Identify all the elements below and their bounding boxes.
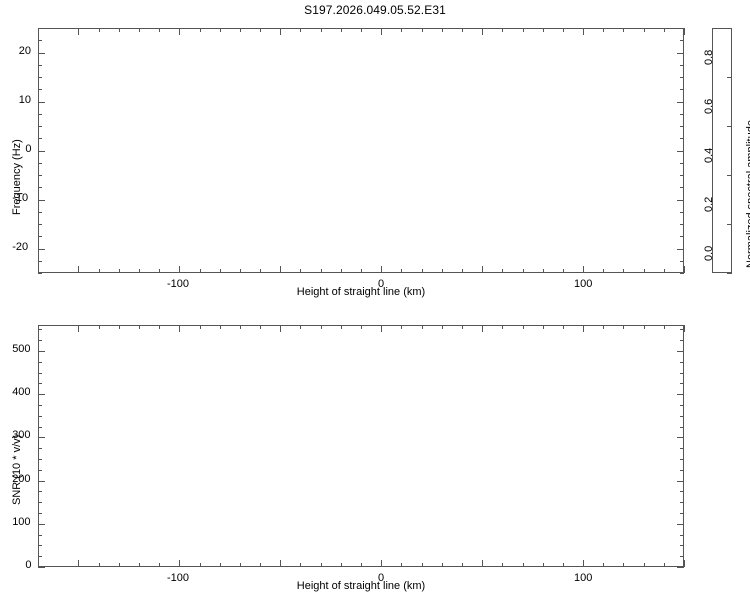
- axis-tick: [422, 325, 423, 329]
- axis-tick: [583, 560, 584, 567]
- axis-tick: [563, 28, 564, 32]
- axis-tick: [280, 266, 281, 273]
- axis-tick: [684, 325, 685, 332]
- axis-tick: [677, 249, 684, 250]
- axis-tick: [280, 28, 281, 35]
- axis-tick: [341, 325, 342, 329]
- axis-tick: [179, 28, 180, 35]
- axis-tick: [680, 77, 684, 78]
- colorbar: [712, 28, 732, 273]
- snr-ytick-label: 100: [12, 516, 30, 528]
- snr-frame: [38, 325, 684, 567]
- axis-tick: [38, 383, 42, 384]
- axis-tick: [139, 28, 140, 32]
- axis-tick: [644, 269, 645, 273]
- axis-tick: [680, 89, 684, 90]
- colorbar-tick-label: 0.8: [703, 50, 715, 65]
- axis-tick: [680, 535, 684, 536]
- axis-tick: [300, 28, 301, 32]
- colorbar-gradient: [713, 29, 731, 272]
- axis-tick: [38, 163, 42, 164]
- axis-tick: [680, 212, 684, 213]
- axis-tick: [38, 427, 42, 428]
- axis-tick: [38, 249, 45, 250]
- axis-tick: [38, 535, 42, 536]
- spectrogram-ytick-label: 20: [19, 45, 31, 57]
- colorbar-tick-label: 0.6: [703, 99, 715, 114]
- colorbar-tick-label: 0.4: [703, 148, 715, 163]
- snr-ytick-label: 500: [12, 343, 30, 355]
- axis-tick: [179, 325, 180, 332]
- axis-tick: [300, 563, 301, 567]
- axis-tick: [38, 212, 42, 213]
- axis-tick: [220, 28, 221, 32]
- axis-tick: [422, 28, 423, 32]
- axis-tick: [523, 563, 524, 567]
- axis-tick: [38, 405, 42, 406]
- axis-tick: [482, 560, 483, 567]
- axis-tick: [543, 269, 544, 273]
- axis-tick: [680, 427, 684, 428]
- axis-tick: [482, 28, 483, 35]
- axis-tick: [38, 65, 42, 66]
- axis-tick: [200, 269, 201, 273]
- axis-tick: [38, 89, 42, 90]
- axis-tick: [680, 138, 684, 139]
- axis-tick: [240, 28, 241, 32]
- axis-tick: [482, 266, 483, 273]
- axis-tick: [139, 325, 140, 329]
- axis-tick: [677, 102, 684, 103]
- axis-tick: [38, 187, 42, 188]
- snr-ytick-label: 0: [25, 559, 31, 571]
- axis-tick: [523, 325, 524, 329]
- axis-tick: [38, 491, 42, 492]
- axis-tick: [220, 563, 221, 567]
- axis-tick: [38, 481, 45, 482]
- axis-tick: [38, 175, 42, 176]
- axis-tick: [280, 560, 281, 567]
- axis-tick: [442, 563, 443, 567]
- axis-tick: [38, 261, 42, 262]
- axis-tick: [38, 470, 42, 471]
- colorbar-label: Normalized spectral amplitude: [745, 120, 750, 268]
- axis-tick: [240, 563, 241, 567]
- axis-tick: [680, 340, 684, 341]
- snr-yaxis-label: SNR (10 * v/v): [11, 435, 23, 505]
- axis-tick: [644, 28, 645, 32]
- axis-tick: [664, 269, 665, 273]
- colorbar-tick-label: 0.2: [703, 197, 715, 212]
- axis-tick: [603, 563, 604, 567]
- axis-tick: [321, 325, 322, 329]
- axis-tick: [727, 126, 732, 127]
- axis-tick: [361, 28, 362, 32]
- axis-tick: [680, 163, 684, 164]
- spectrogram-xaxis-label: Height of straight line (km): [0, 286, 722, 298]
- spectrogram-yaxis-label: Frequency (Hz): [11, 139, 23, 215]
- axis-tick: [38, 102, 45, 103]
- axis-tick: [38, 200, 45, 201]
- axis-tick: [240, 269, 241, 273]
- axis-tick: [680, 362, 684, 363]
- axis-tick: [260, 325, 261, 329]
- axis-tick: [680, 224, 684, 225]
- axis-tick: [462, 28, 463, 32]
- axis-tick: [321, 563, 322, 567]
- axis-tick: [78, 325, 79, 332]
- axis-tick: [38, 28, 42, 29]
- axis-tick: [664, 563, 665, 567]
- axis-tick: [680, 448, 684, 449]
- axis-tick: [680, 416, 684, 417]
- axis-tick: [502, 325, 503, 329]
- axis-tick: [563, 563, 564, 567]
- axis-tick: [38, 459, 42, 460]
- axis-tick: [664, 325, 665, 329]
- axis-tick: [361, 563, 362, 567]
- axis-tick: [381, 266, 382, 273]
- axis-tick: [38, 273, 42, 274]
- axis-tick: [38, 448, 42, 449]
- axis-tick: [78, 266, 79, 273]
- axis-tick: [563, 325, 564, 329]
- axis-tick: [38, 114, 42, 115]
- axis-tick: [543, 563, 544, 567]
- axis-tick: [543, 28, 544, 32]
- axis-tick: [727, 273, 732, 274]
- axis-tick: [677, 200, 684, 201]
- axis-tick: [38, 394, 45, 395]
- spectrogram-ytick-label: 0: [25, 143, 31, 155]
- axis-tick: [38, 138, 42, 139]
- axis-tick: [401, 269, 402, 273]
- axis-tick: [680, 114, 684, 115]
- axis-tick: [680, 373, 684, 374]
- axis-tick: [502, 563, 503, 567]
- axis-tick: [623, 325, 624, 329]
- axis-tick: [38, 40, 42, 41]
- axis-tick: [442, 325, 443, 329]
- axis-tick: [38, 513, 42, 514]
- axis-tick: [623, 28, 624, 32]
- axis-tick: [341, 28, 342, 32]
- axis-tick: [442, 269, 443, 273]
- axis-tick: [159, 325, 160, 329]
- axis-tick: [401, 563, 402, 567]
- axis-tick: [38, 351, 45, 352]
- axis-tick: [727, 77, 732, 78]
- axis-tick: [482, 325, 483, 332]
- axis-tick: [99, 563, 100, 567]
- axis-tick: [260, 28, 261, 32]
- figure-title: S197.2026.049.05.52.E31: [0, 3, 750, 17]
- axis-tick: [38, 236, 42, 237]
- axis-tick: [677, 437, 684, 438]
- axis-tick: [680, 459, 684, 460]
- axis-tick: [680, 513, 684, 514]
- axis-tick: [78, 28, 79, 35]
- axis-tick: [462, 563, 463, 567]
- axis-tick: [680, 329, 684, 330]
- axis-tick: [680, 28, 684, 29]
- axis-tick: [119, 28, 120, 32]
- axis-tick: [401, 325, 402, 329]
- axis-tick: [78, 560, 79, 567]
- axis-tick: [341, 563, 342, 567]
- axis-tick: [680, 383, 684, 384]
- axis-tick: [462, 325, 463, 329]
- axis-tick: [583, 28, 584, 35]
- axis-tick: [381, 28, 382, 35]
- axis-tick: [684, 266, 685, 273]
- axis-tick: [99, 325, 100, 329]
- axis-tick: [727, 224, 732, 225]
- axis-tick: [159, 563, 160, 567]
- axis-tick: [677, 394, 684, 395]
- snr-ytick-label: 400: [12, 386, 30, 398]
- axis-tick: [260, 269, 261, 273]
- axis-tick: [200, 28, 201, 32]
- axis-tick: [543, 325, 544, 329]
- axis-tick: [38, 151, 45, 152]
- axis-tick: [664, 28, 665, 32]
- axis-tick: [179, 560, 180, 567]
- axis-tick: [260, 563, 261, 567]
- axis-tick: [139, 269, 140, 273]
- axis-tick: [220, 269, 221, 273]
- axis-tick: [200, 325, 201, 329]
- figure-root: S197.2026.049.05.52.E31 -1000100-20-1001…: [0, 0, 750, 600]
- axis-tick: [727, 175, 732, 176]
- axis-tick: [677, 481, 684, 482]
- axis-tick: [38, 567, 45, 568]
- axis-tick: [680, 491, 684, 492]
- axis-tick: [680, 236, 684, 237]
- axis-tick: [680, 545, 684, 546]
- axis-tick: [99, 28, 100, 32]
- axis-tick: [38, 545, 42, 546]
- axis-tick: [200, 563, 201, 567]
- axis-tick: [38, 524, 45, 525]
- axis-tick: [38, 416, 42, 417]
- axis-tick: [179, 266, 180, 273]
- axis-tick: [381, 325, 382, 332]
- axis-tick: [680, 556, 684, 557]
- axis-tick: [677, 524, 684, 525]
- axis-tick: [119, 563, 120, 567]
- axis-tick: [502, 28, 503, 32]
- axis-tick: [603, 325, 604, 329]
- axis-tick: [381, 560, 382, 567]
- axis-tick: [583, 266, 584, 273]
- axis-tick: [361, 269, 362, 273]
- axis-tick: [680, 273, 684, 274]
- axis-tick: [38, 373, 42, 374]
- axis-tick: [680, 187, 684, 188]
- axis-tick: [38, 224, 42, 225]
- axis-tick: [680, 502, 684, 503]
- axis-tick: [644, 563, 645, 567]
- spectrogram-frame: [38, 28, 684, 273]
- axis-tick: [677, 351, 684, 352]
- axis-tick: [280, 325, 281, 332]
- axis-tick: [139, 563, 140, 567]
- spectrogram-ytick-label: 10: [19, 94, 31, 106]
- axis-tick: [563, 269, 564, 273]
- axis-tick: [38, 556, 42, 557]
- axis-tick: [462, 269, 463, 273]
- axis-tick: [603, 28, 604, 32]
- axis-tick: [38, 340, 42, 341]
- axis-tick: [677, 151, 684, 152]
- colorbar-tick-label: 0.0: [703, 246, 715, 261]
- axis-tick: [321, 269, 322, 273]
- spectrogram-ytick-label: -20: [12, 241, 28, 253]
- axis-tick: [220, 325, 221, 329]
- axis-tick: [361, 325, 362, 329]
- axis-tick: [680, 126, 684, 127]
- axis-tick: [623, 563, 624, 567]
- axis-tick: [680, 261, 684, 262]
- axis-tick: [677, 567, 684, 568]
- axis-tick: [583, 325, 584, 332]
- axis-tick: [684, 560, 685, 567]
- axis-tick: [623, 269, 624, 273]
- axis-tick: [523, 28, 524, 32]
- axis-tick: [300, 269, 301, 273]
- axis-tick: [159, 28, 160, 32]
- axis-tick: [680, 40, 684, 41]
- axis-tick: [321, 28, 322, 32]
- axis-tick: [603, 269, 604, 273]
- axis-tick: [422, 563, 423, 567]
- axis-tick: [680, 405, 684, 406]
- axis-tick: [680, 470, 684, 471]
- axis-tick: [422, 269, 423, 273]
- axis-tick: [684, 28, 685, 35]
- axis-tick: [38, 329, 42, 330]
- axis-tick: [119, 325, 120, 329]
- axis-tick: [38, 53, 45, 54]
- axis-tick: [38, 502, 42, 503]
- axis-tick: [680, 65, 684, 66]
- axis-tick: [502, 269, 503, 273]
- axis-tick: [300, 325, 301, 329]
- axis-tick: [644, 325, 645, 329]
- axis-tick: [240, 325, 241, 329]
- axis-tick: [99, 269, 100, 273]
- axis-tick: [442, 28, 443, 32]
- axis-tick: [677, 53, 684, 54]
- axis-tick: [341, 269, 342, 273]
- axis-tick: [38, 77, 42, 78]
- axis-tick: [401, 28, 402, 32]
- snr-xaxis-label: Height of straight line (km): [0, 580, 722, 592]
- axis-tick: [680, 175, 684, 176]
- axis-tick: [523, 269, 524, 273]
- axis-tick: [38, 126, 42, 127]
- axis-tick: [38, 437, 45, 438]
- axis-tick: [119, 269, 120, 273]
- axis-tick: [38, 362, 42, 363]
- axis-tick: [159, 269, 160, 273]
